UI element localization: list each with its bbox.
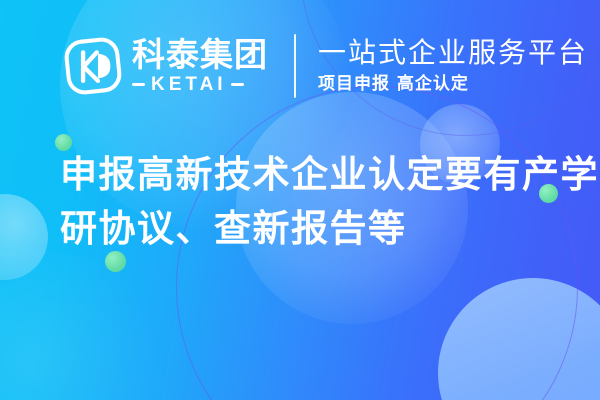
header-divider <box>294 34 296 98</box>
disc-bottom-right <box>438 278 600 400</box>
brand-lockup: 科泰集团 KETAI <box>62 35 268 97</box>
headline-line-1: 申报高新技术企业认定要有产学 <box>60 148 580 202</box>
logo-company-cn: 科泰集团 <box>132 38 268 72</box>
ketai-kd-monogram-icon <box>62 35 124 97</box>
headline-block: 申报高新技术企业认定要有产学 研协议、查新报告等 <box>60 148 580 255</box>
tagline-sub: 项目申报 高企认定 <box>318 73 588 95</box>
banner-header: 科泰集团 KETAI 一站式企业服务平台 项目申报 高企认定 <box>62 34 588 98</box>
logo-en-row: KETAI <box>132 74 268 96</box>
tagline-main: 一站式企业服务平台 <box>318 36 588 69</box>
logo-company-en: KETAI <box>151 74 227 96</box>
glow-bottom-left <box>0 250 180 400</box>
logo-rule-right <box>231 83 244 86</box>
headline-line-2: 研协议、查新报告等 <box>60 202 580 256</box>
disc-left-edge <box>0 194 48 280</box>
header-tagline: 一站式企业服务平台 项目申报 高企认定 <box>318 36 588 95</box>
promo-banner: 科泰集团 KETAI 一站式企业服务平台 项目申报 高企认定 申报高新技术企业认… <box>0 0 600 400</box>
logo-rule-left <box>132 83 145 86</box>
logo-wordmark: 科泰集团 KETAI <box>132 38 268 96</box>
